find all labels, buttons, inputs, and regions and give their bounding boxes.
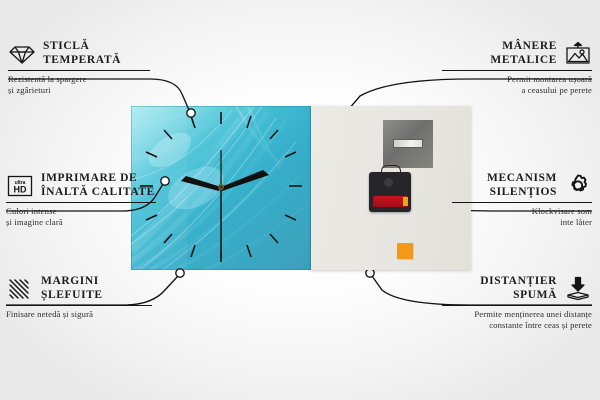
badge-text-hd: HD <box>14 184 27 194</box>
battery <box>373 196 407 207</box>
feature-manere-metalice: MÂNERE METALICE Permit montarea ușoară a… <box>442 40 592 95</box>
feature-distantier-spuma: DISTANȚIER SPUMĂ Permite menținerea unei… <box>442 275 592 330</box>
hanger-slot <box>393 139 423 148</box>
feature-rule <box>452 202 592 203</box>
feature-title: MARGINI ȘLEFUITE <box>41 275 103 302</box>
feature-title: MECANISM SILENȚIOS <box>487 172 557 199</box>
feature-title: MÂNERE METALICE <box>490 40 557 67</box>
feature-subtitle: Klockvisare som inte låter <box>452 206 592 227</box>
clock-back-panel <box>311 106 471 270</box>
feature-header: MECANISM SILENȚIOS <box>452 172 592 199</box>
feature-margini-slefuite: MARGINI ȘLEFUITE Finisare netedă și sigu… <box>6 275 154 320</box>
foam-spacer-icon <box>564 276 592 301</box>
feature-title: STICLĂ TEMPERATĂ <box>43 40 121 67</box>
infographic-canvas: STICLĂ TEMPERATĂ Rezistentă la spargere … <box>0 0 600 400</box>
gear-icon <box>564 173 592 198</box>
picture-hanger-icon <box>564 41 592 66</box>
feature-subtitle: Rezistentă la spargere și zgârieturi <box>8 74 158 95</box>
feature-header: DISTANȚIER SPUMĂ <box>442 275 592 302</box>
metal-hanger-plate <box>383 120 433 168</box>
ultra-hd-badge-icon: ultra HD <box>6 174 34 198</box>
mechanism-hook <box>381 165 401 175</box>
feature-header: ultra HD IMPRIMARE DE ÎNALTĂ CALITATE <box>6 172 158 199</box>
feature-sticla-temperata: STICLĂ TEMPERATĂ Rezistentă la spargere … <box>8 40 158 95</box>
diamond-icon <box>8 42 36 66</box>
feature-subtitle: Permite menținerea unei distanțe constan… <box>442 309 592 330</box>
feature-subtitle: Permit montarea ușoară a ceasului pe per… <box>442 74 592 95</box>
feature-rule <box>6 202 156 203</box>
feature-rule <box>8 70 150 71</box>
feature-rule <box>6 305 152 306</box>
feature-subtitle: Culori intense și imagine clară <box>6 206 158 227</box>
clock-face-artwork <box>131 106 311 270</box>
feature-imprimare-calitate: ultra HD IMPRIMARE DE ÎNALTĂ CALITATE Cu… <box>6 172 158 227</box>
feature-title: DISTANȚIER SPUMĂ <box>480 275 557 302</box>
feature-rule <box>442 305 592 306</box>
feature-header: MARGINI ȘLEFUITE <box>6 275 154 302</box>
foam-spacer-pad <box>397 243 413 259</box>
polished-edges-icon <box>6 277 34 301</box>
feature-subtitle: Finisare netedă și sigură <box>6 309 154 320</box>
clock-mechanism <box>369 172 411 212</box>
feature-rule <box>442 70 592 71</box>
feature-mecanism-silentios: MECANISM SILENȚIOS Klockvisare som inte … <box>452 172 592 227</box>
feature-header: MÂNERE METALICE <box>442 40 592 67</box>
feature-header: STICLĂ TEMPERATĂ <box>8 40 158 67</box>
battery-terminal <box>403 197 408 206</box>
feature-title: IMPRIMARE DE ÎNALTĂ CALITATE <box>41 172 155 199</box>
mechanism-shaft <box>384 178 393 187</box>
